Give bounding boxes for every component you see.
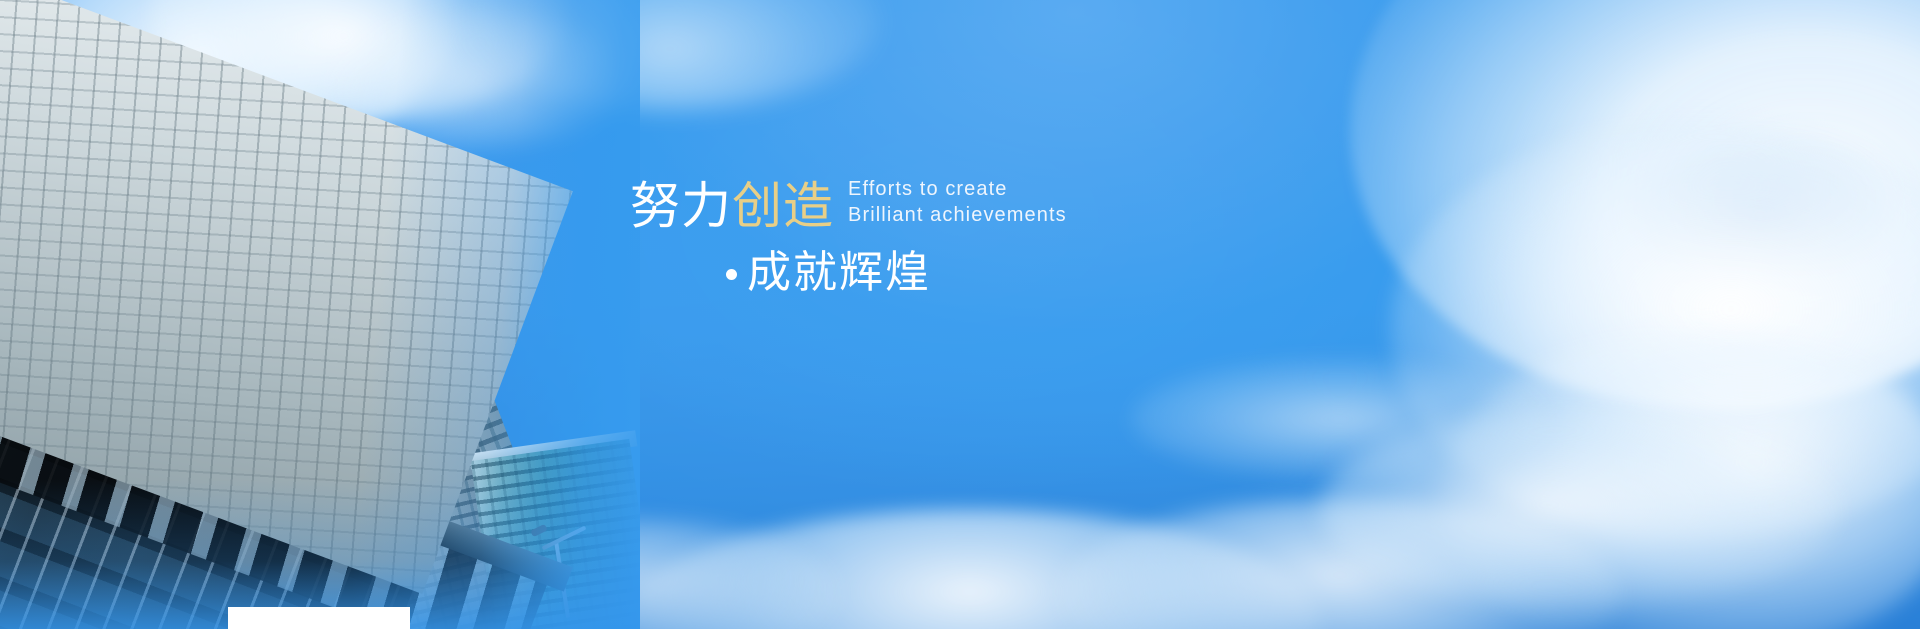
slogan-en-block: Efforts to create Brilliant achievements: [848, 176, 1067, 233]
slogan-cn-white-part: 努力: [630, 177, 732, 235]
slogan-block: 努力创造 Efforts to create Brilliant achieve…: [630, 176, 1250, 297]
skyscraper-photo: [0, 0, 640, 629]
slogan-cn-headline: 努力创造: [630, 179, 834, 233]
slogan-cn-subline: 成就辉煌: [747, 249, 931, 297]
slogan-en-line-2: Brilliant achievements: [848, 202, 1067, 228]
slogan-en-line-1: Efforts to create: [848, 176, 1067, 202]
slogan-secondary-line: 成就辉煌: [726, 249, 1250, 297]
slogan-cn-gold-part: 创造: [732, 177, 834, 235]
hero-banner: 努力创造 Efforts to create Brilliant achieve…: [0, 0, 1920, 629]
bullet-dot-icon: [726, 269, 737, 280]
slogan-primary-line: 努力创造 Efforts to create Brilliant achieve…: [630, 176, 1250, 233]
photo-corner-notch: [228, 607, 410, 629]
